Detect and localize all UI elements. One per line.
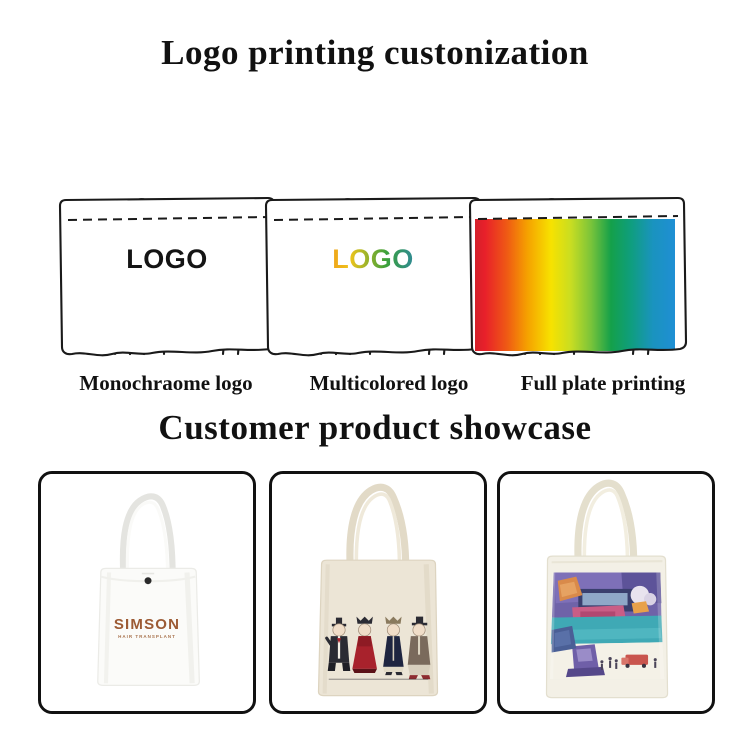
page-title-logo-printing: Logo printing custonization: [0, 33, 750, 73]
showcase-brand-text-simson: SIMSON: [41, 616, 253, 633]
customer-showcase-row: SIMSON HAIR TRANSPLANT: [0, 471, 750, 711]
bag-illustration-multicolored: LOGO: [258, 86, 488, 366]
tote-bag-rainbow-icon: [462, 86, 692, 366]
full-print-tote-photo: [500, 474, 712, 711]
showcase-photo-simson-tote[interactable]: SIMSON HAIR TRANSPLANT: [38, 471, 256, 714]
canvas-tote-characters-photo: [272, 474, 484, 711]
bag-caption-multicolored: Multicolored logo: [275, 371, 503, 396]
bag-illustration-monochrome: LOGO: [52, 86, 282, 366]
showcase-photo-illustration-tote[interactable]: [497, 471, 715, 714]
bag-illustration-row: LOGO LOGO: [0, 86, 750, 366]
showcase-photo-characters-tote[interactable]: [269, 471, 487, 714]
tote-bag-outline-icon: [258, 86, 488, 366]
bag-caption-full-plate: Full plate printing: [494, 371, 712, 396]
bag-print-label-monochrome: LOGO: [52, 244, 282, 275]
bag-caption-monochrome: Monochraome logo: [46, 371, 286, 396]
bag-illustration-full-plate: [462, 86, 692, 366]
tote-bag-outline-icon: [52, 86, 282, 366]
page-title-customer-showcase: Customer product showcase: [0, 408, 750, 448]
bag-print-label-multicolored: LOGO: [258, 244, 488, 275]
white-tote-photo: [41, 474, 253, 711]
showcase-brand-subtext-simson: HAIR TRANSPLANT: [41, 634, 253, 639]
